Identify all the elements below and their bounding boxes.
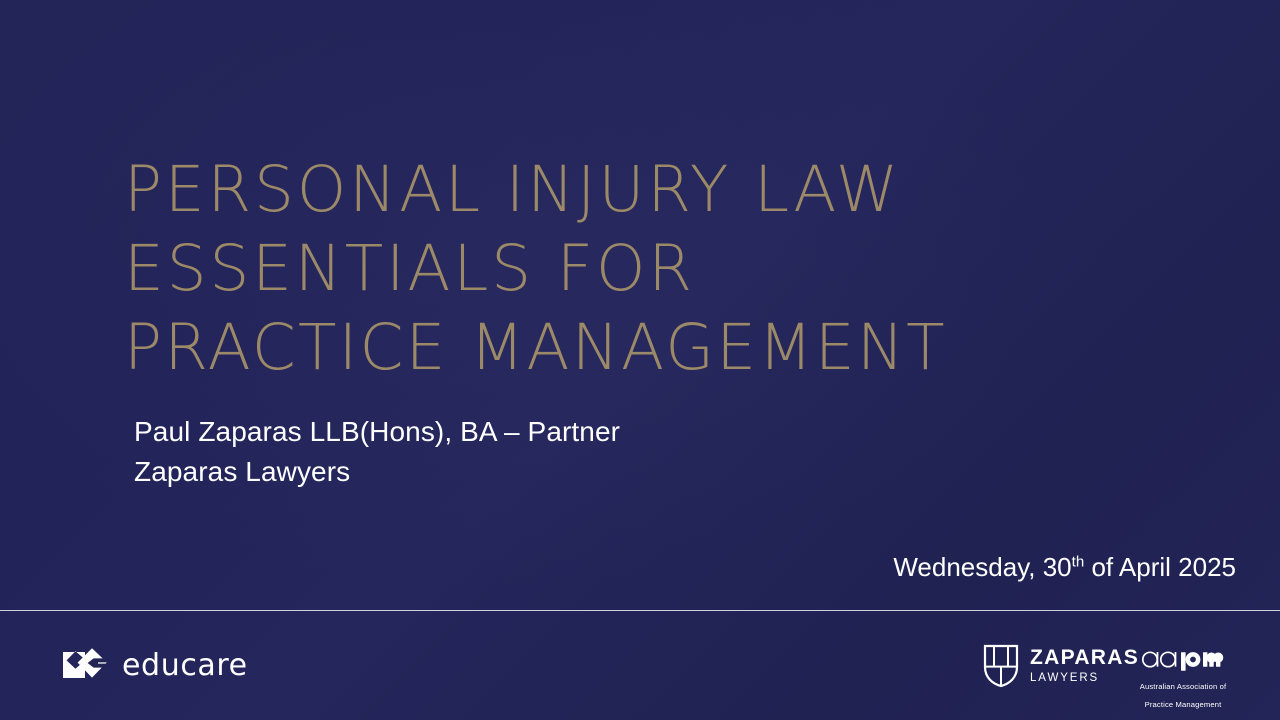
aapm-subtitle-line-1: Australian Association of bbox=[1140, 682, 1226, 691]
presentation-slide: PERSONAL INJURY LAW ESSENTIALS FOR PRACT… bbox=[0, 0, 1280, 720]
zaparas-text-block: ZAPARAS LAWYERS bbox=[1030, 646, 1139, 686]
slide-footer: educare ZAPARAS LAWYERS bbox=[0, 611, 1280, 720]
shield-icon bbox=[983, 644, 1019, 688]
presenter-organisation: Zaparas Lawyers bbox=[134, 452, 834, 492]
zaparas-name: ZAPARAS bbox=[1030, 646, 1139, 669]
slide-date: Wednesday, 30th of April 2025 bbox=[893, 550, 1236, 584]
title-line-1: PERSONAL INJURY LAW bbox=[124, 150, 1084, 229]
date-prefix: Wednesday, 30 bbox=[893, 552, 1071, 582]
zaparas-subtitle: LAWYERS bbox=[1030, 671, 1139, 686]
date-suffix: of April 2025 bbox=[1084, 552, 1236, 582]
educare-wordmark: educare bbox=[122, 648, 248, 683]
educare-logo: educare bbox=[62, 647, 248, 683]
title-line-2: ESSENTIALS FOR bbox=[124, 229, 1084, 308]
presenter-name: Paul Zaparas LLB(Hons), BA – Partner bbox=[134, 412, 834, 452]
aapm-logo: Australian Association of Practice Manag… bbox=[1137, 645, 1229, 712]
aapm-wordmark-icon bbox=[1137, 645, 1229, 676]
slide-title: PERSONAL INJURY LAW ESSENTIALS FOR PRACT… bbox=[124, 150, 1084, 387]
presenter-block: Paul Zaparas LLB(Hons), BA – Partner Zap… bbox=[134, 412, 834, 492]
educare-mark-icon bbox=[62, 647, 108, 683]
zaparas-logo: ZAPARAS LAWYERS bbox=[983, 644, 1139, 688]
title-line-3: PRACTICE MANAGEMENT bbox=[124, 308, 1084, 387]
aapm-subtitle-line-2: Practice Management bbox=[1145, 700, 1222, 709]
date-ordinal-suffix: th bbox=[1072, 553, 1085, 570]
